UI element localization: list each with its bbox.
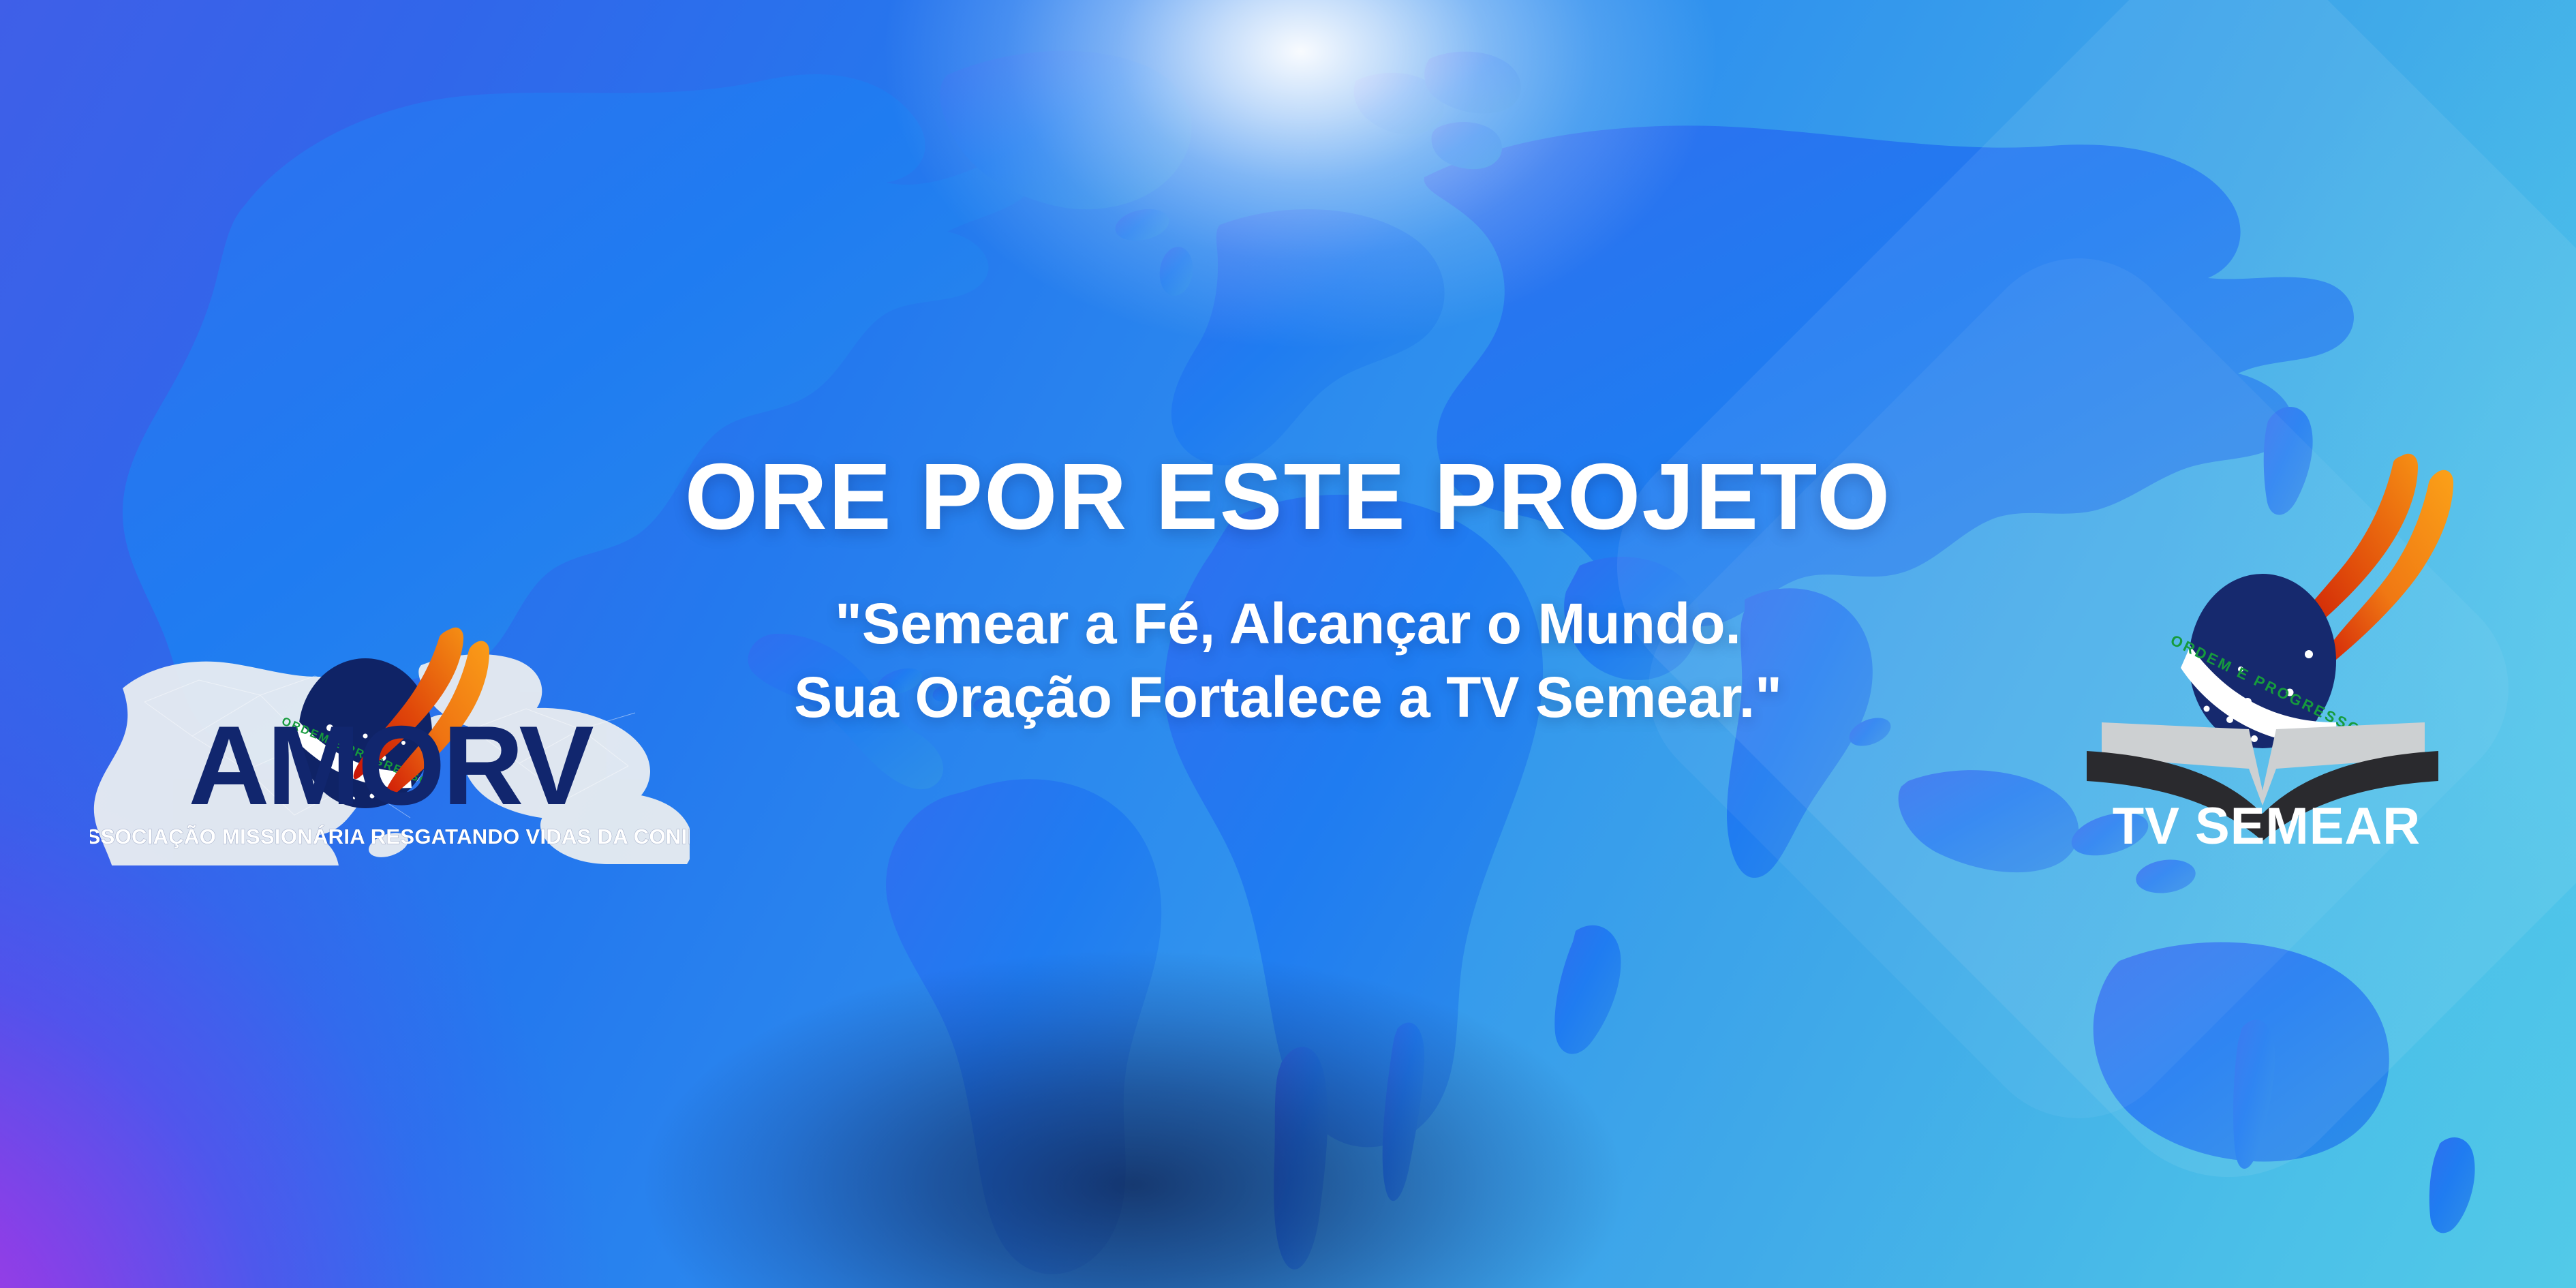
tv-semear-logo: ORDEM E PROGRESSO TV SEMEAR: [2051, 450, 2487, 859]
tv-semear-wordmark: TV SEMEAR: [2113, 797, 2421, 855]
prayer-campaign-banner: ORDEM E PROGRESSO AMORV ASSOCIAÇÃO MISSI…: [0, 0, 2576, 1288]
amorv-wordmark: AMORV: [188, 703, 593, 828]
amorv-tagline: ASSOCIAÇÃO MISSIONÁRIA RESGATANDO VIDAS …: [90, 825, 690, 848]
amorv-logo: ORDEM E PROGRESSO AMORV ASSOCIAÇÃO MISSI…: [90, 600, 690, 865]
